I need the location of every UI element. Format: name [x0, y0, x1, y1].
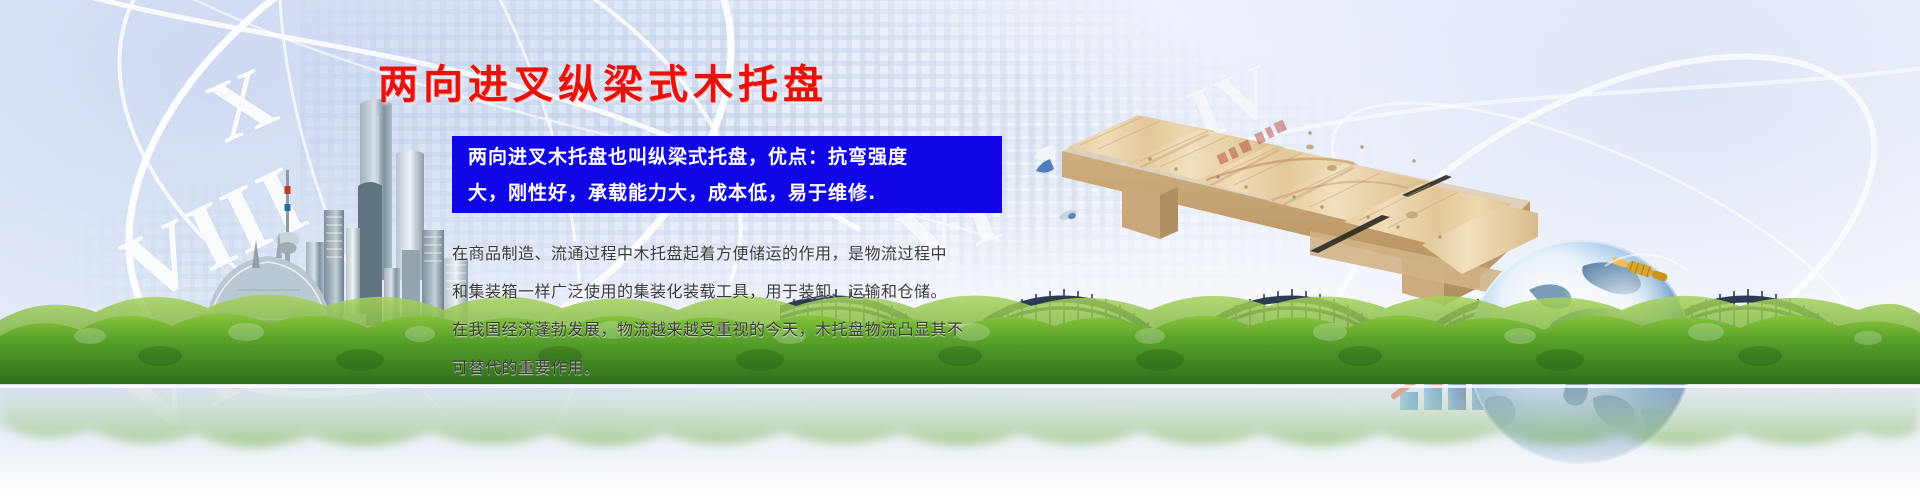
body-line-4: 可替代的重要作用。: [452, 354, 1012, 382]
body-line-2: 和集装箱一样广泛使用的集装化装载工具，用于装卸、运输和仓储。: [452, 278, 1012, 306]
body-line-3: 在我国经济蓬勃发展，物流越来越受重视的今天，木托盘物流凸显其不: [452, 316, 1012, 344]
page-title: 两向进叉纵梁式木托盘: [378, 52, 828, 110]
body-line-1: 在商品制造、流通过程中木托盘起着方便储运的作用，是物流过程中: [452, 240, 1012, 268]
highlight-callout: 两向进叉木托盘也叫纵梁式托盘，优点：抗弯强度 大，刚性好，承载能力大，成本低，易…: [452, 136, 1002, 213]
promo-banner: X VIII VII VI IV II III: [0, 0, 1920, 500]
highlight-line-1: 两向进叉木托盘也叫纵梁式托盘，优点：抗弯强度: [468, 139, 986, 175]
description-paragraph: 在商品制造、流通过程中木托盘起着方便储运的作用，是物流过程中 和集装箱一样广泛使…: [452, 240, 1012, 392]
tree-reflection: [0, 386, 1920, 474]
highlight-line-2: 大，刚性好，承载能力大，成本低，易于维修.: [468, 175, 986, 211]
